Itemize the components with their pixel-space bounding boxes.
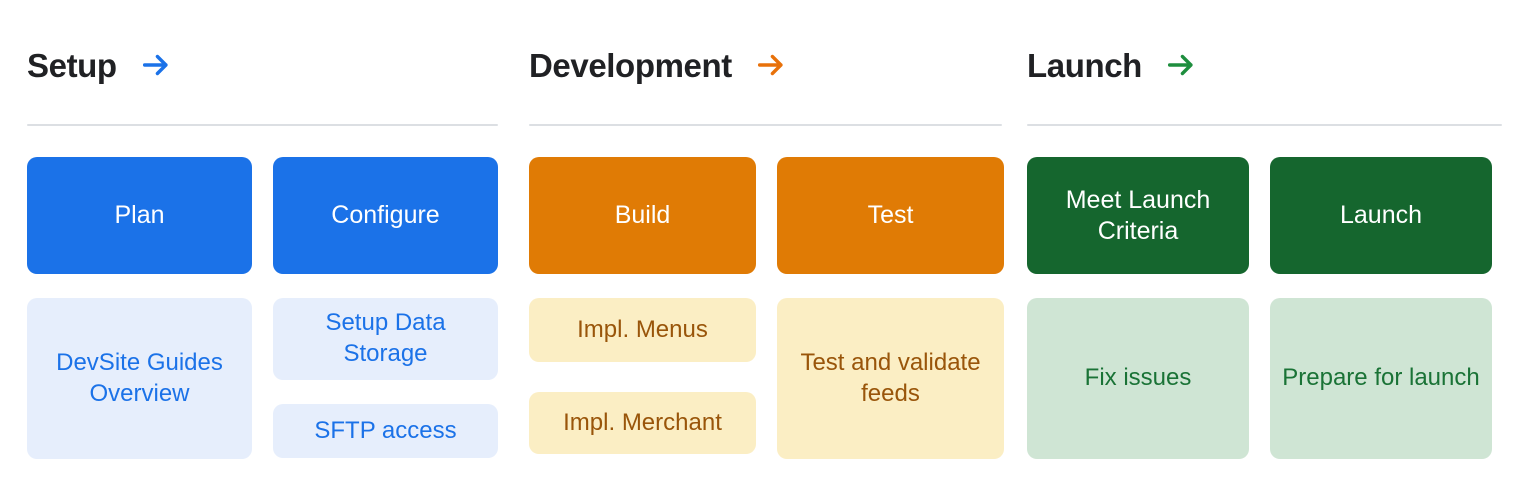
- arrow-right-icon: [754, 48, 788, 82]
- card-build[interactable]: Build: [529, 157, 756, 274]
- process-phases-diagram: Setup Plan DevSite Guides Overview Confi…: [0, 0, 1518, 484]
- phase-column-launch: Launch Meet Launch Criteria Fix issues L…: [1014, 0, 1518, 484]
- card-configure[interactable]: Configure: [273, 157, 498, 274]
- phase-title-launch: Launch: [1027, 49, 1142, 82]
- card-test[interactable]: Test: [777, 157, 1004, 274]
- card-plan[interactable]: Plan: [27, 157, 252, 274]
- phase-header-launch: Launch: [1027, 0, 1492, 124]
- substack-configure: Setup Data Storage SFTP access: [273, 298, 498, 484]
- phase-header-development: Development: [529, 0, 1004, 124]
- phase-columns: Setup Plan DevSite Guides Overview Confi…: [0, 0, 1518, 484]
- track-plan: Plan DevSite Guides Overview: [27, 157, 252, 484]
- card-meet-launch-criteria[interactable]: Meet Launch Criteria: [1027, 157, 1249, 274]
- card-launch[interactable]: Launch: [1270, 157, 1492, 274]
- card-devsite-guides-overview[interactable]: DevSite Guides Overview: [27, 298, 252, 459]
- substack-meet-launch-criteria: Fix issues: [1027, 298, 1249, 484]
- phase-body-development: Build Impl. Menus Impl. Merchant Test Te…: [529, 157, 1004, 484]
- substack-gap: [273, 380, 498, 404]
- substack-build: Impl. Menus Impl. Merchant: [529, 298, 756, 484]
- phase-divider-setup: [27, 124, 498, 126]
- phase-title-setup: Setup: [27, 49, 117, 82]
- phase-divider-launch: [1027, 124, 1502, 126]
- phase-header-setup: Setup: [27, 0, 498, 124]
- card-impl-merchant[interactable]: Impl. Merchant: [529, 392, 756, 454]
- substack-test: Test and validate feeds: [777, 298, 1004, 484]
- card-sftp-access[interactable]: SFTP access: [273, 404, 498, 458]
- phase-column-development: Development Build Impl. Menus Impl. Merc…: [510, 0, 1014, 484]
- arrow-right-icon: [1164, 48, 1198, 82]
- arrow-right-icon: [139, 48, 173, 82]
- phase-divider-development: [529, 124, 1002, 126]
- track-launch: Launch Prepare for launch: [1270, 157, 1492, 484]
- phase-column-setup: Setup Plan DevSite Guides Overview Confi…: [0, 0, 510, 484]
- phase-body-launch: Meet Launch Criteria Fix issues Launch P…: [1027, 157, 1492, 484]
- track-configure: Configure Setup Data Storage SFTP access: [273, 157, 498, 484]
- track-build: Build Impl. Menus Impl. Merchant: [529, 157, 756, 484]
- track-test: Test Test and validate feeds: [777, 157, 1004, 484]
- card-impl-menus[interactable]: Impl. Menus: [529, 298, 756, 362]
- substack-gap: [529, 362, 756, 392]
- card-setup-data-storage[interactable]: Setup Data Storage: [273, 298, 498, 380]
- card-fix-issues[interactable]: Fix issues: [1027, 298, 1249, 459]
- phase-title-development: Development: [529, 49, 732, 82]
- track-meet-launch-criteria: Meet Launch Criteria Fix issues: [1027, 157, 1249, 484]
- card-test-and-validate-feeds[interactable]: Test and validate feeds: [777, 298, 1004, 459]
- phase-body-setup: Plan DevSite Guides Overview Configure S…: [27, 157, 498, 484]
- substack-plan: DevSite Guides Overview: [27, 298, 252, 484]
- card-prepare-for-launch[interactable]: Prepare for launch: [1270, 298, 1492, 459]
- substack-launch: Prepare for launch: [1270, 298, 1492, 484]
